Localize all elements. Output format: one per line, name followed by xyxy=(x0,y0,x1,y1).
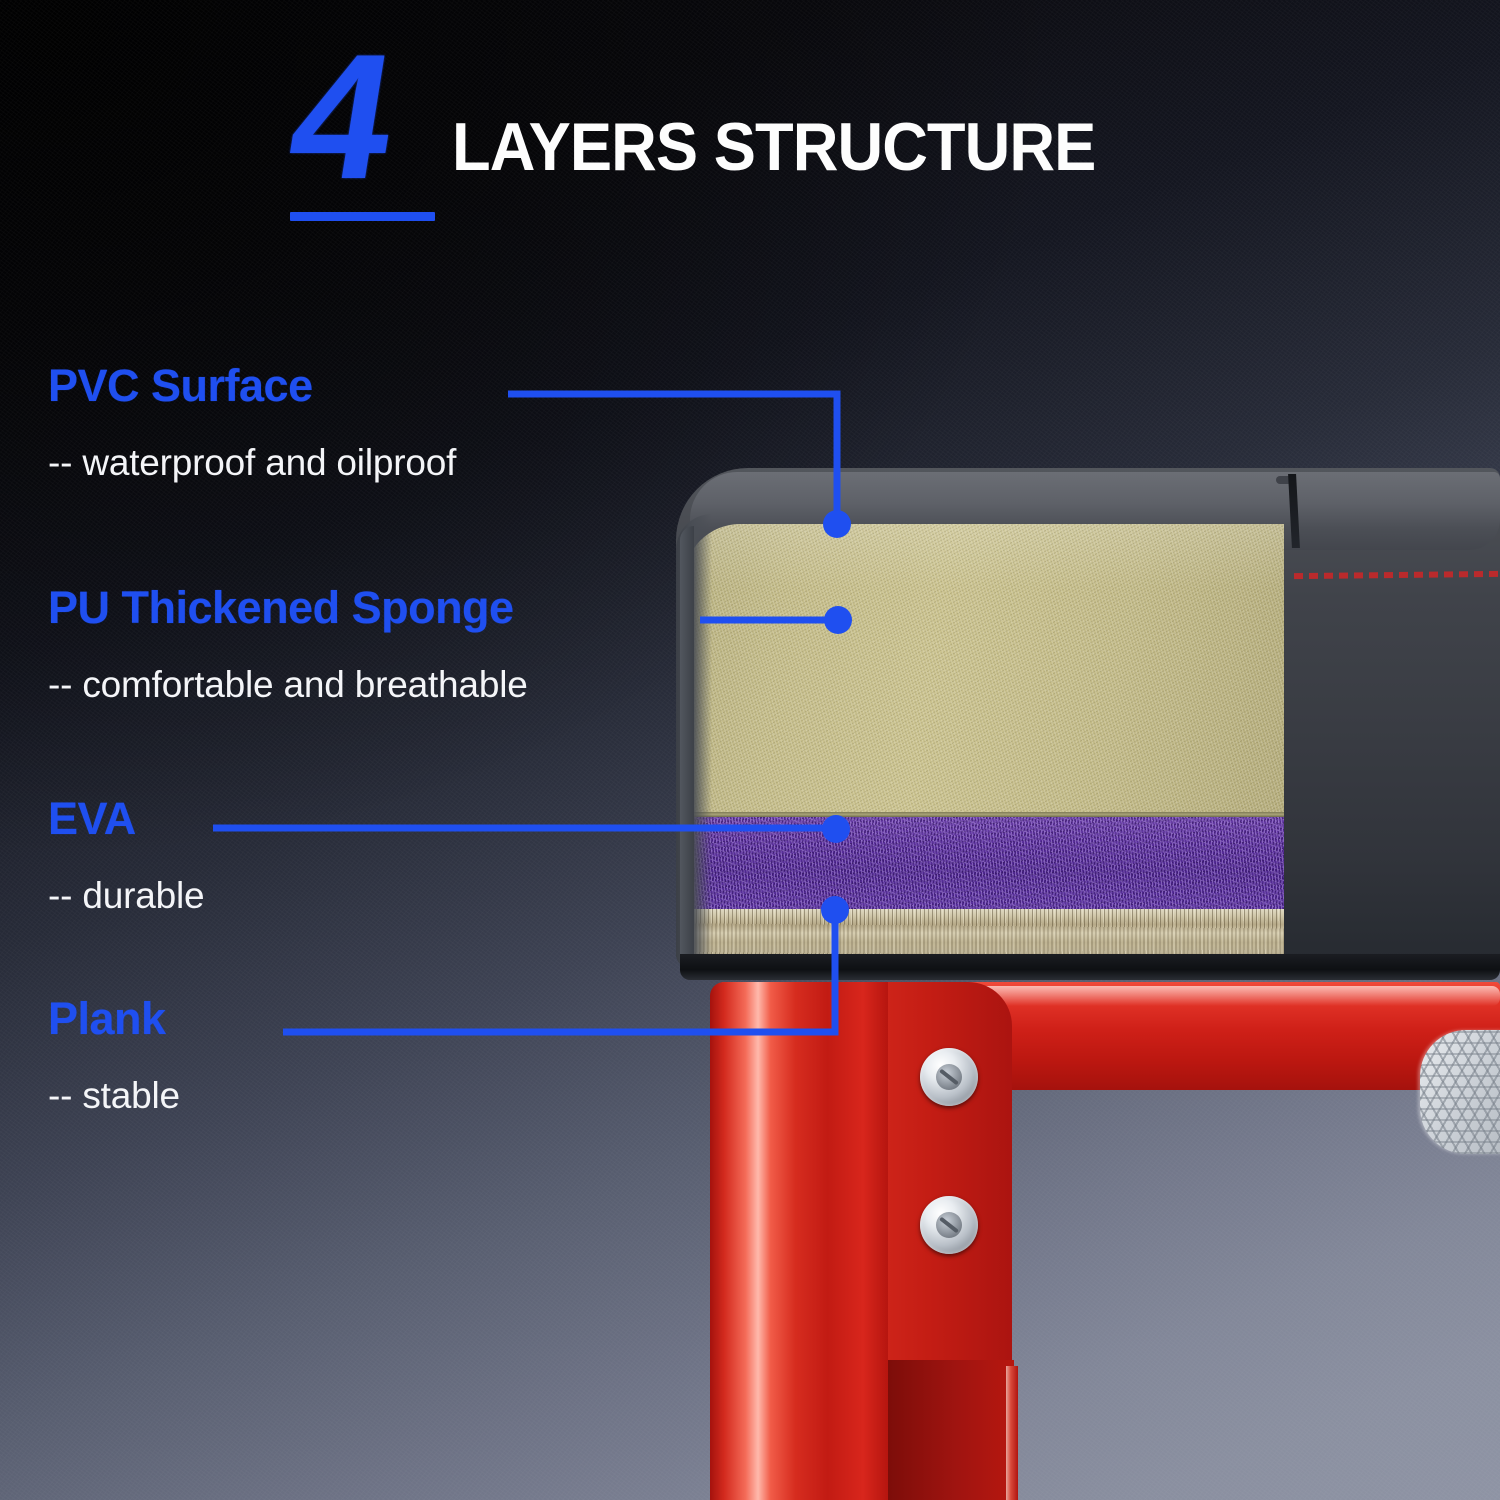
layer-description: -- stable xyxy=(48,1077,180,1114)
leader-dot-pu xyxy=(824,606,852,634)
layer-label-plank: Plank -- stable xyxy=(48,996,180,1114)
layer-description: -- durable xyxy=(48,877,204,914)
leader-line-pvc xyxy=(508,394,837,522)
layer-description: -- waterproof and oilproof xyxy=(48,444,456,481)
layer-name: PVC Surface xyxy=(48,363,456,408)
layer-name: EVA xyxy=(48,796,204,841)
layer-label-pu-thickened-sponge: PU Thickened Sponge -- comfortable and b… xyxy=(48,585,528,703)
layer-label-eva: EVA -- durable xyxy=(48,796,204,914)
layer-description: -- comfortable and breathable xyxy=(48,666,528,703)
layer-name: PU Thickened Sponge xyxy=(48,585,528,630)
leader-line-plank xyxy=(283,912,835,1032)
leader-dot-plank xyxy=(821,896,849,924)
leader-dot-pvc xyxy=(823,510,851,538)
leader-lines xyxy=(0,0,1500,1500)
layer-name: Plank xyxy=(48,996,180,1041)
leader-dot-eva xyxy=(822,815,850,843)
layer-label-pvc-surface: PVC Surface -- waterproof and oilproof xyxy=(48,363,456,481)
